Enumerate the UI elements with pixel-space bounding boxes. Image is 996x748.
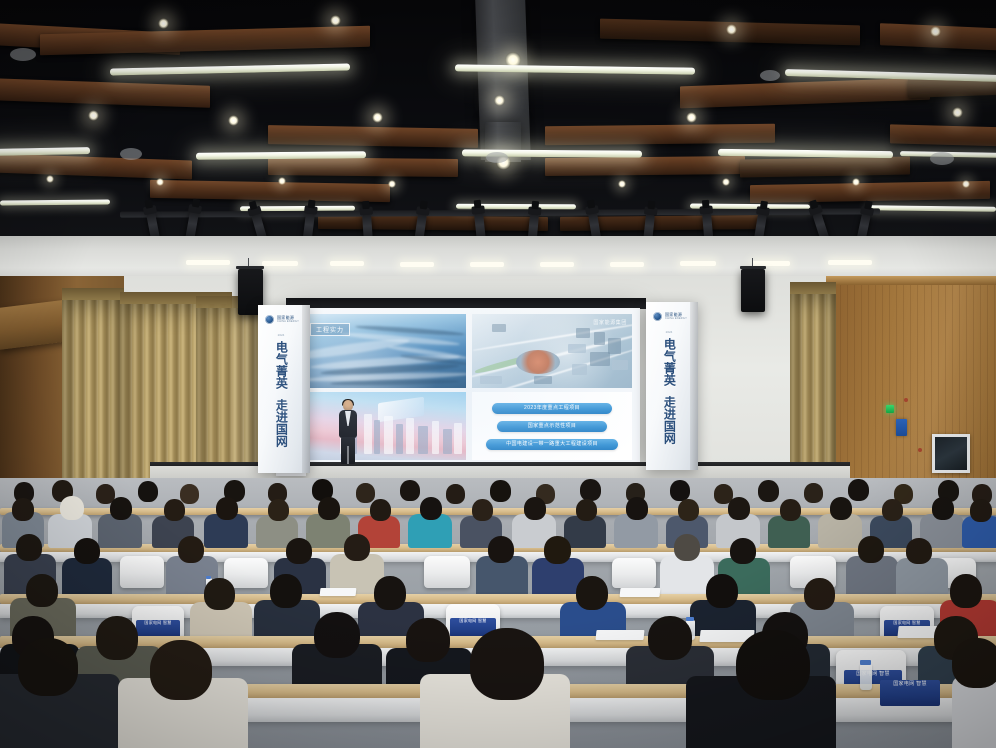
- ceiling-downlight: [930, 26, 941, 37]
- soffit-panel-light: [470, 262, 504, 267]
- soffit-panel-light: [186, 260, 230, 265]
- audience-head: [758, 480, 779, 502]
- ceiling-baffle: [750, 181, 990, 203]
- audience-head: [420, 497, 442, 520]
- audience-head: [490, 480, 511, 502]
- audience-head: [544, 536, 571, 564]
- roll-up-banner-left: 国家能源 CHINA ENERGY 2024 电气菁英 走进国网: [258, 305, 310, 473]
- audience-head: [830, 497, 852, 520]
- ceiling-baffle: [545, 156, 745, 176]
- audience-head: [286, 538, 312, 564]
- presenter-leg-gap: [347, 446, 349, 464]
- curtain-rail: [62, 288, 124, 300]
- audience-chair: [120, 556, 164, 588]
- bottle-cap: [860, 660, 871, 665]
- banner-line-1: 电气菁英: [274, 341, 289, 389]
- soffit-panel-light: [610, 262, 644, 267]
- stage-curtain-left: [62, 288, 124, 504]
- audience-head-foreground: [736, 630, 810, 700]
- ceiling-baffle: [740, 157, 910, 178]
- exit-sign-icon: [886, 405, 894, 413]
- ceiling-track-head: [760, 70, 780, 81]
- ceiling: [0, 0, 996, 268]
- audience-head: [204, 578, 235, 610]
- audience-head: [344, 534, 370, 561]
- right-wall-trim: [826, 276, 996, 285]
- chair-back-cover: 国家电网 智慧: [880, 680, 940, 706]
- ceiling-downlight: [722, 178, 730, 186]
- slide-image-night-city: [300, 392, 466, 460]
- audience-head: [858, 536, 884, 563]
- audience-head: [950, 574, 982, 608]
- audience-chair: [424, 556, 470, 588]
- audience-head: [848, 479, 869, 501]
- audience-head: [400, 480, 420, 501]
- audience-head: [906, 538, 932, 564]
- paper-handout: [320, 588, 357, 596]
- audience-head: [74, 538, 100, 564]
- ceiling-downlight: [388, 180, 396, 188]
- audience-head: [728, 497, 750, 520]
- conference-hall-photo: 工程实力 国家能源集团: [0, 0, 996, 748]
- banner-vertical-text-right: 电气菁英 走进国网: [646, 338, 692, 460]
- ceiling-downlight: [156, 178, 164, 186]
- ceiling-downlight: [88, 110, 99, 121]
- audience-head: [730, 538, 756, 564]
- soffit-panel-light: [680, 261, 716, 266]
- audience-head: [626, 497, 648, 520]
- audience-head: [270, 574, 302, 608]
- slide-image-mine-aerial: 工程实力: [300, 314, 466, 388]
- banner-vertical-text-left: 电气菁英 走进国网: [258, 341, 304, 463]
- audience-head: [706, 574, 738, 608]
- paper-handout: [595, 630, 644, 640]
- audience-head: [882, 499, 903, 521]
- roll-up-banner-right: 国家能源 CHINA ENERGY 2024 电气菁英 走进国网: [646, 302, 698, 470]
- ceiling-baffle: [890, 124, 996, 146]
- slide-badge: 工程实力: [310, 323, 350, 336]
- banner-tiny-top: 2024: [258, 333, 304, 337]
- ceiling-downlight: [494, 95, 505, 106]
- banner-edge: [690, 302, 698, 470]
- wall-direction-sign: [896, 419, 907, 436]
- audience-head: [318, 497, 340, 520]
- banner-logo-subtext: CHINA ENERGY: [277, 320, 299, 323]
- audience-head: [268, 499, 289, 521]
- ceiling-baffle: [268, 157, 458, 177]
- soffit-panel-light: [400, 262, 434, 267]
- audience-head: [932, 497, 954, 520]
- audience-head: [370, 499, 391, 521]
- audience-head-foreground: [18, 638, 78, 696]
- audience-head: [804, 483, 823, 503]
- ceiling-downlight: [278, 177, 286, 185]
- audience-head: [472, 499, 493, 521]
- banner-logo-right: 国家能源 CHINA ENERGY: [653, 312, 687, 321]
- soffit-panel-light: [540, 262, 574, 267]
- audience-head: [138, 481, 158, 502]
- audience-head: [576, 576, 608, 610]
- audience-head: [446, 484, 465, 504]
- audience-head: [374, 576, 406, 610]
- ceiling-baffle: [545, 124, 775, 145]
- ceiling-baffle: [268, 125, 478, 148]
- ceiling-track-head: [10, 48, 36, 61]
- ceiling-led-strip: [196, 151, 366, 159]
- slide-bullet-1: 2023年度重点工程项目: [492, 403, 612, 414]
- ceiling-led-strip: [0, 147, 90, 156]
- bottle-cap: [206, 576, 211, 579]
- audience-head: [524, 497, 546, 520]
- ceiling-track-head: [486, 152, 508, 163]
- ceiling-downlight: [618, 180, 626, 188]
- audience-head: [180, 484, 199, 504]
- soffit-panel-light: [828, 260, 872, 265]
- banner-edge: [302, 305, 310, 473]
- wall-fixture-dot: [904, 398, 908, 402]
- audience-head: [110, 497, 132, 520]
- paper-handout: [620, 588, 661, 597]
- pa-speaker-right: [741, 269, 765, 312]
- banner-logo-subtext: CHINA ENERGY: [665, 317, 687, 320]
- slide-bullet-panel: 2023年度重点工程项目 国家重点示范性项目 中国电建设一带一路重大工程建设项目: [472, 392, 632, 460]
- audience-body: [62, 558, 112, 598]
- company-logo-icon: [653, 312, 662, 321]
- ceiling-track-head: [930, 152, 954, 165]
- banner-line-2: 走进国网: [662, 396, 677, 444]
- audience-head: [670, 480, 690, 501]
- audience-head-grey: [674, 534, 700, 561]
- ceiling-downlight: [686, 112, 697, 123]
- audience-chair: [612, 558, 656, 588]
- ceiling-downlight: [962, 180, 970, 188]
- audience-head: [16, 534, 42, 561]
- banner-line-1: 电气菁英: [662, 338, 677, 386]
- ceiling-track-head: [120, 148, 142, 160]
- ceiling-downlight: [952, 107, 963, 118]
- service-window: [932, 434, 970, 473]
- audience-head: [216, 497, 238, 520]
- audience-head: [488, 536, 514, 563]
- audience-head: [406, 618, 450, 662]
- audience-area: 国家电网 智慧 国家电网 智慧 国家电网 智慧 国家电网 智慧: [0, 478, 996, 748]
- ceiling-led-strip: [870, 205, 996, 212]
- ceiling-baffle: [0, 154, 192, 180]
- audience-head: [780, 499, 801, 521]
- ceiling-baffle: [150, 180, 390, 202]
- slide-watermark: 国家能源集团: [593, 319, 627, 326]
- bottle-cap: [686, 617, 694, 621]
- banner-logo-left: 国家能源 CHINA ENERGY: [265, 315, 299, 324]
- audience-head-foreground: [952, 638, 996, 688]
- company-logo-icon: [265, 315, 274, 324]
- audience-head: [356, 483, 375, 503]
- ceiling-baffle: [0, 78, 210, 108]
- slide-bullet-2: 国家重点示范性项目: [497, 421, 607, 432]
- ceiling-led-strip: [110, 63, 350, 75]
- ceiling-downlight: [726, 24, 737, 35]
- slide-bullet-3: 中国电建设一带一路重大工程建设项目: [486, 439, 618, 450]
- water-bottle: [860, 664, 872, 690]
- audience-head-foreground: [470, 628, 544, 700]
- ceiling-downlight: [228, 115, 239, 126]
- ceiling-downlight: [852, 178, 860, 186]
- ceiling-baffle: [318, 215, 548, 231]
- ceiling-led-strip: [0, 199, 110, 205]
- audience-head: [648, 616, 692, 660]
- audience-head: [970, 499, 992, 522]
- wall-fixture-dot: [918, 448, 922, 452]
- audience-head: [96, 616, 138, 660]
- audience-head: [164, 499, 185, 521]
- audience-head: [678, 499, 699, 521]
- ceiling-baffle: [680, 78, 930, 109]
- audience-head: [314, 612, 360, 658]
- ceiling-downlight: [372, 112, 383, 123]
- ceiling-downlight: [330, 15, 341, 26]
- soffit-panel-light: [330, 261, 364, 266]
- audience-head-foreground: [150, 640, 212, 700]
- curtain-rail: [790, 282, 836, 294]
- banner-tiny-top: 2024: [646, 330, 692, 334]
- audience-body: [896, 558, 948, 598]
- audience-head: [576, 499, 597, 521]
- audience-head: [12, 498, 34, 521]
- audience-head: [26, 574, 58, 607]
- ceiling-downlight: [46, 175, 54, 183]
- soffit-panel-light: [262, 261, 298, 266]
- audience-head: [580, 479, 601, 501]
- banner-line-2: 走进国网: [274, 399, 289, 447]
- presenter: [337, 400, 359, 466]
- audience-head-with-cap: [60, 496, 84, 520]
- audience-head: [178, 536, 204, 563]
- ceiling-downlight: [158, 18, 169, 29]
- audience-head: [804, 578, 835, 610]
- slide-image-campus-aerial: 国家能源集团: [472, 314, 632, 388]
